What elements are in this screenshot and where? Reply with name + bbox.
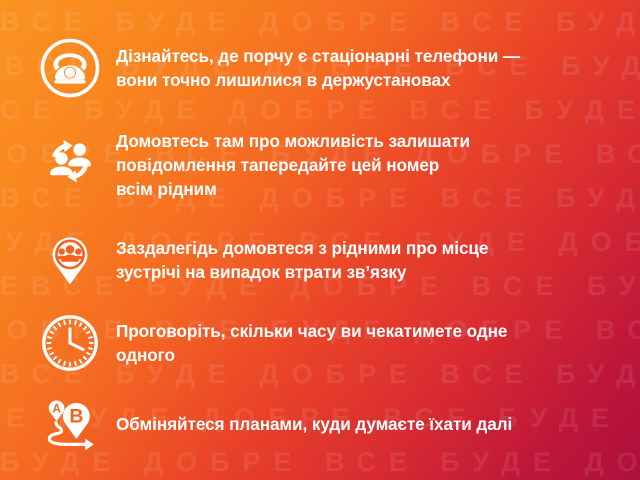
- tip-line: Заздалегідь домовтеся з рідними про місц…: [116, 236, 488, 260]
- tips-list: Дізнайтесь, де порчу є стаціонарні телеф…: [0, 0, 640, 480]
- tip-text-1: Дізнайтесь, де порчу є стаціонарні телеф…: [104, 34, 520, 92]
- tip-text-4: Проговоріть, скільки часу ви чекатимете …: [104, 309, 507, 367]
- tip-item-2: Домовтесь там про можливість залишати по…: [36, 127, 628, 201]
- tip-line: Домовтесь там про можливість залишати: [116, 129, 470, 153]
- people-exchange-icon: [36, 127, 104, 195]
- tip-text-3: Заздалегідь домовтеся з рідними про місц…: [104, 226, 488, 284]
- tip-text-2: Домовтесь там про можливість залишати по…: [104, 127, 470, 201]
- route-label-a: A: [52, 404, 60, 416]
- tip-item-5: A B Обміняйтеся планами, куди думаєте їх…: [36, 392, 628, 460]
- map-pin-people-icon: [36, 226, 104, 294]
- tip-text-5: Обміняйтеся планами, куди думаєте їхати …: [104, 392, 512, 436]
- tip-line: зустрічі на випадок втрати зв’язку: [116, 260, 488, 284]
- tip-line: повідомлення тапередайте цей номер: [116, 153, 470, 177]
- tip-line: вони точно лишилися в держустановах: [116, 68, 520, 92]
- tip-item-1: Дізнайтесь, де порчу є стаціонарні телеф…: [36, 34, 628, 102]
- clock-icon: [36, 309, 104, 377]
- tip-item-3: Заздалегідь домовтеся з рідними про місц…: [36, 226, 628, 294]
- route-a-to-b-icon: A B: [36, 392, 104, 460]
- route-label-b: B: [69, 405, 83, 427]
- tip-line: всім рідним: [116, 177, 470, 201]
- tip-line: Дізнайтесь, де порчу є стаціонарні телеф…: [116, 44, 520, 68]
- tip-item-4: Проговоріть, скільки часу ви чекатимете …: [36, 309, 628, 377]
- tip-line: Обміняйтеся планами, куди думаєте їхати …: [116, 412, 512, 436]
- rotary-telephone-icon: [36, 34, 104, 102]
- infographic-poster: ВСЕ БУДЕ ДОБРЕ ВСЕ БУДЕ ДОБРЕ ВСЕ БУДЕ Д…: [0, 0, 640, 480]
- tip-line: Проговоріть, скільки часу ви чекатимете …: [116, 319, 507, 343]
- tip-line: одного: [116, 343, 507, 367]
